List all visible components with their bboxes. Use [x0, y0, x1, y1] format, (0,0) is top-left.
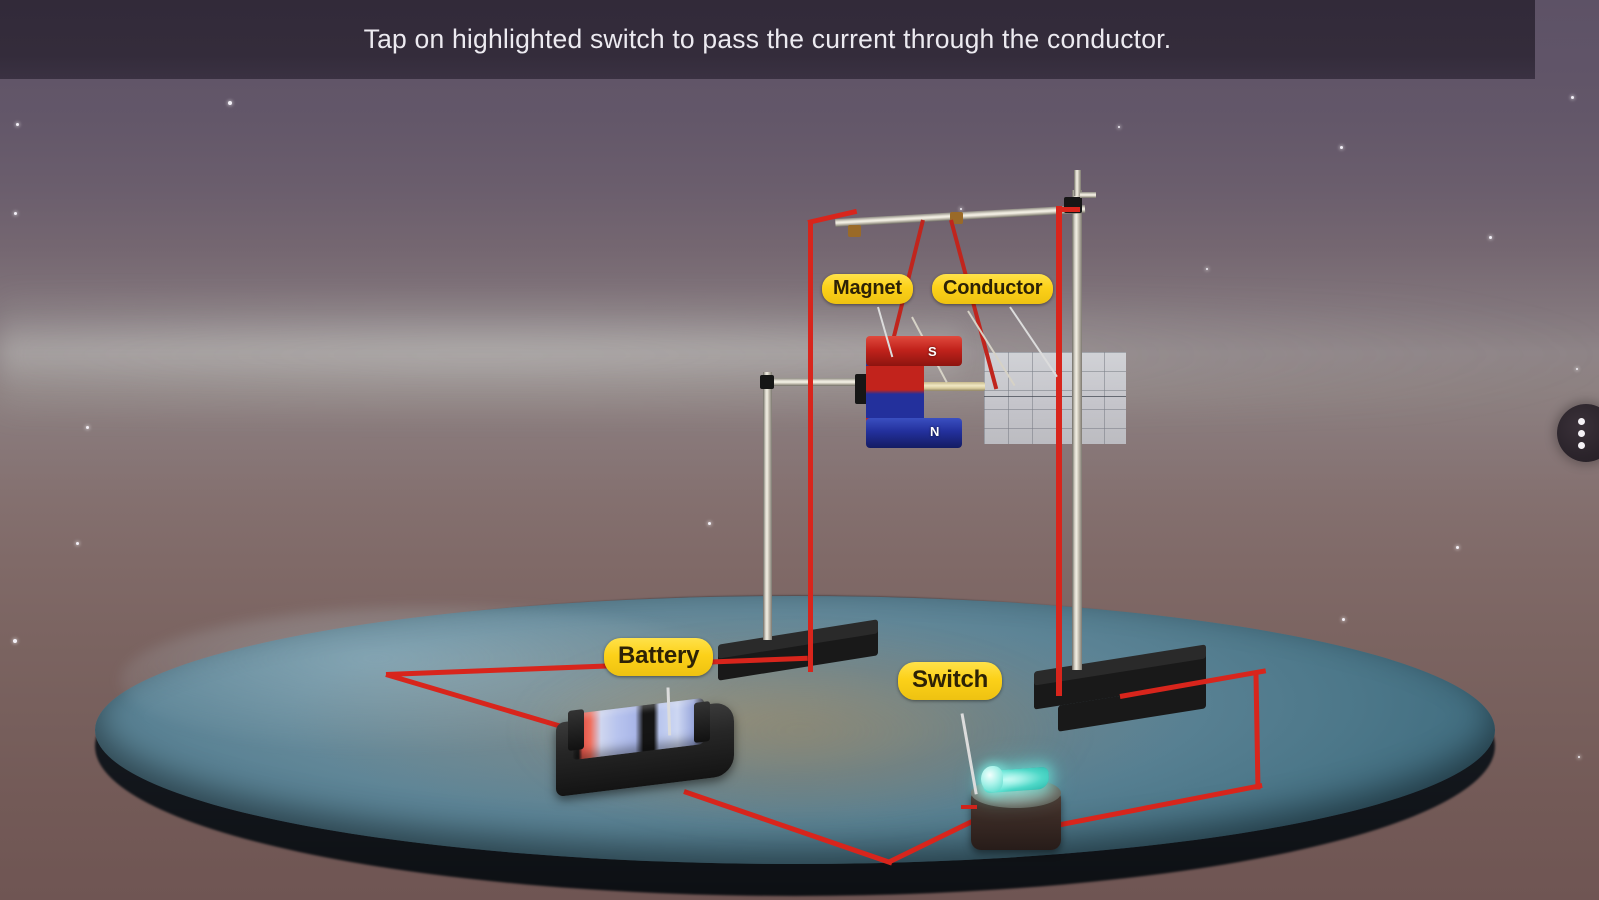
kebab-dot-1	[1578, 418, 1585, 425]
star-dot	[1456, 546, 1459, 549]
instruction-banner: Tap on highlighted switch to pass the cu…	[0, 0, 1535, 79]
star-dot	[1576, 368, 1578, 370]
kebab-dot-2	[1578, 430, 1585, 437]
star-dot	[76, 542, 79, 545]
star-dot	[13, 639, 17, 643]
magnet-support-rod	[768, 378, 868, 386]
switch-lever-tip-icon[interactable]	[981, 766, 1003, 792]
label-conductor[interactable]: Conductor	[932, 274, 1053, 304]
circuit-wire-vertical-left	[808, 220, 813, 672]
star-dot	[1571, 96, 1574, 99]
label-battery-text: Battery	[618, 642, 699, 669]
star-dot	[1340, 146, 1343, 149]
magnet-north-pole-label: N	[930, 424, 939, 439]
star-dot	[1342, 618, 1345, 621]
star-dot	[16, 123, 19, 126]
instruction-text: Tap on highlighted switch to pass the cu…	[364, 24, 1172, 55]
kebab-dot-3	[1578, 442, 1585, 449]
star-dot	[1489, 236, 1492, 239]
star-dot	[1578, 756, 1580, 758]
magnet-rod-clamp-left	[760, 375, 774, 389]
label-magnet[interactable]: Magnet	[822, 274, 913, 304]
graph-axis-line	[984, 396, 1126, 397]
simulation-canvas: S N Magnet Conductor Battery Switch	[0, 0, 1599, 900]
label-conductor-text: Conductor	[943, 277, 1042, 299]
star-dot	[14, 212, 17, 215]
star-dot	[708, 522, 711, 525]
star-dot	[228, 101, 232, 105]
circuit-wire-top-right-elbow	[1056, 207, 1080, 212]
battery-cap-right	[694, 701, 710, 743]
top-post-crossrod	[1080, 192, 1096, 198]
label-switch[interactable]: Switch	[898, 662, 1002, 700]
label-switch-text: Switch	[912, 666, 988, 693]
star-dot	[86, 426, 89, 429]
magnet-north-arm	[866, 418, 962, 448]
circuit-wire-vertical-right	[1056, 206, 1062, 696]
star-dot	[1206, 268, 1208, 270]
star-dot	[960, 208, 962, 210]
battery-cap-left	[568, 709, 584, 751]
magnet-south-arm	[866, 336, 962, 366]
label-magnet-text: Magnet	[833, 277, 902, 299]
label-battery[interactable]: Battery	[604, 638, 713, 676]
left-stand-post	[763, 378, 772, 640]
crossbar-clamp-left	[848, 225, 861, 237]
magnet-south-pole-label: S	[928, 344, 937, 359]
horseshoe-magnet: S N	[866, 336, 962, 448]
right-stand-post	[1072, 190, 1082, 670]
switch-terminal-wire	[961, 805, 977, 809]
star-dot	[1118, 126, 1120, 128]
graph-grid-panel	[984, 352, 1126, 444]
